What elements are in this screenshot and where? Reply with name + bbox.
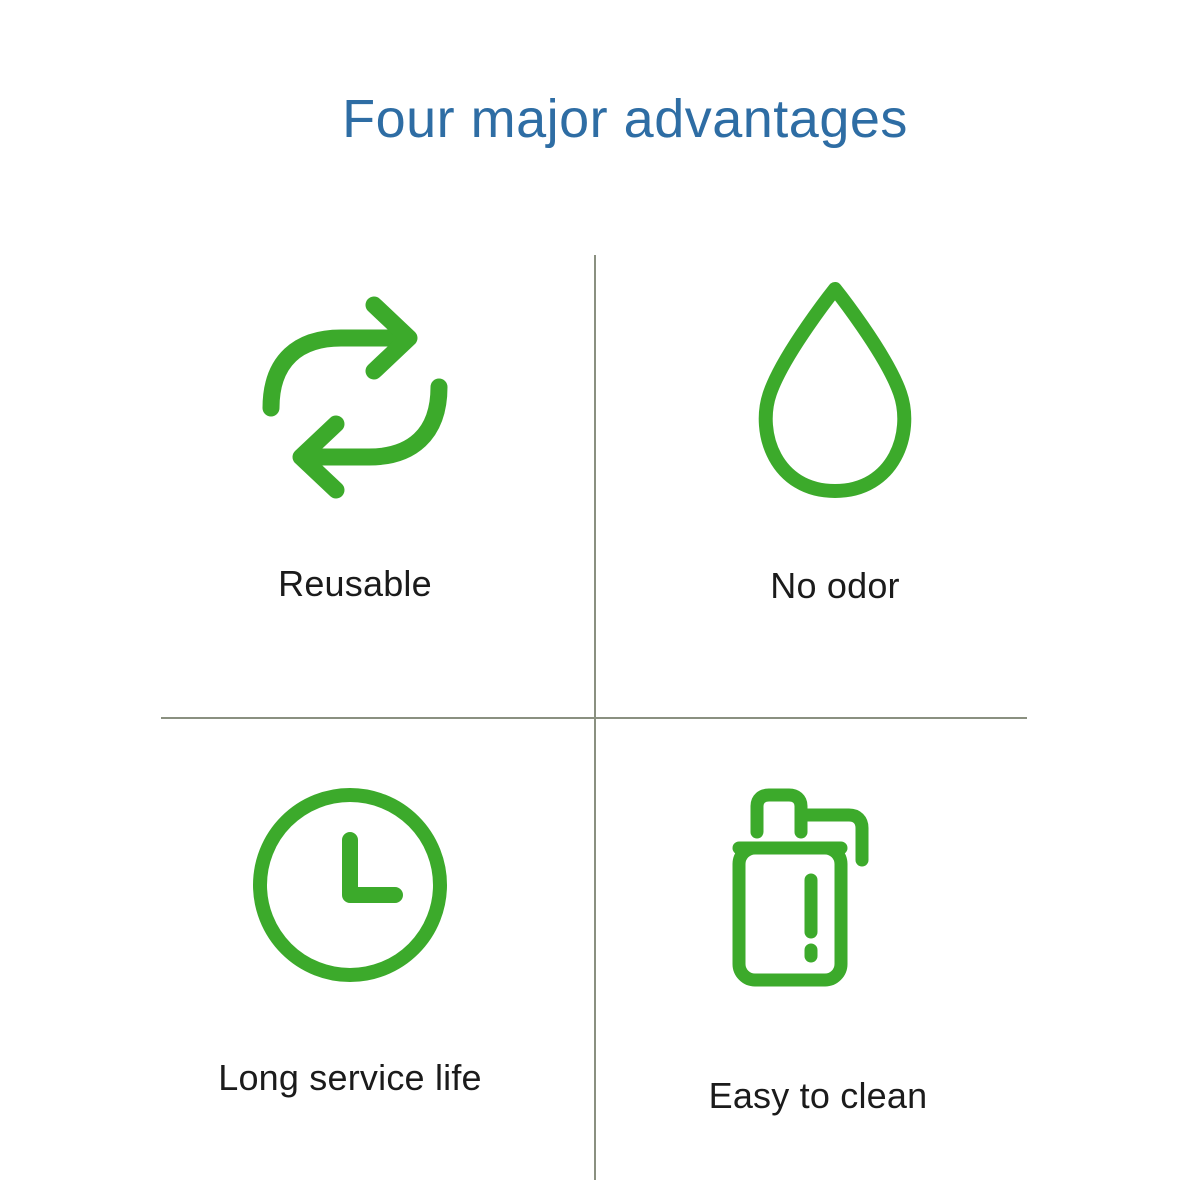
advantage-label-long-service-life: Long service life <box>218 1057 482 1099</box>
advantage-label-no-odor: No odor <box>770 565 899 607</box>
advantage-label-reusable: Reusable <box>278 563 432 605</box>
advantage-card-long-service-life: Long service life <box>150 785 550 1099</box>
page-title: Four major advantages <box>0 88 1200 150</box>
divider-horizontal <box>161 717 1027 719</box>
clock-icon <box>250 785 450 985</box>
advantage-label-easy-to-clean: Easy to clean <box>709 1075 928 1117</box>
advantage-card-reusable: Reusable <box>155 290 555 605</box>
advantage-card-easy-to-clean: Easy to clean <box>618 770 1018 1117</box>
advantages-infographic: Four major advantages Reusable No odor <box>0 0 1200 1200</box>
advantage-card-no-odor: No odor <box>635 275 1035 607</box>
recycle-arrows-icon <box>255 290 455 505</box>
soap-dispenser-bottle-icon <box>723 770 913 995</box>
water-drop-icon <box>740 275 930 505</box>
